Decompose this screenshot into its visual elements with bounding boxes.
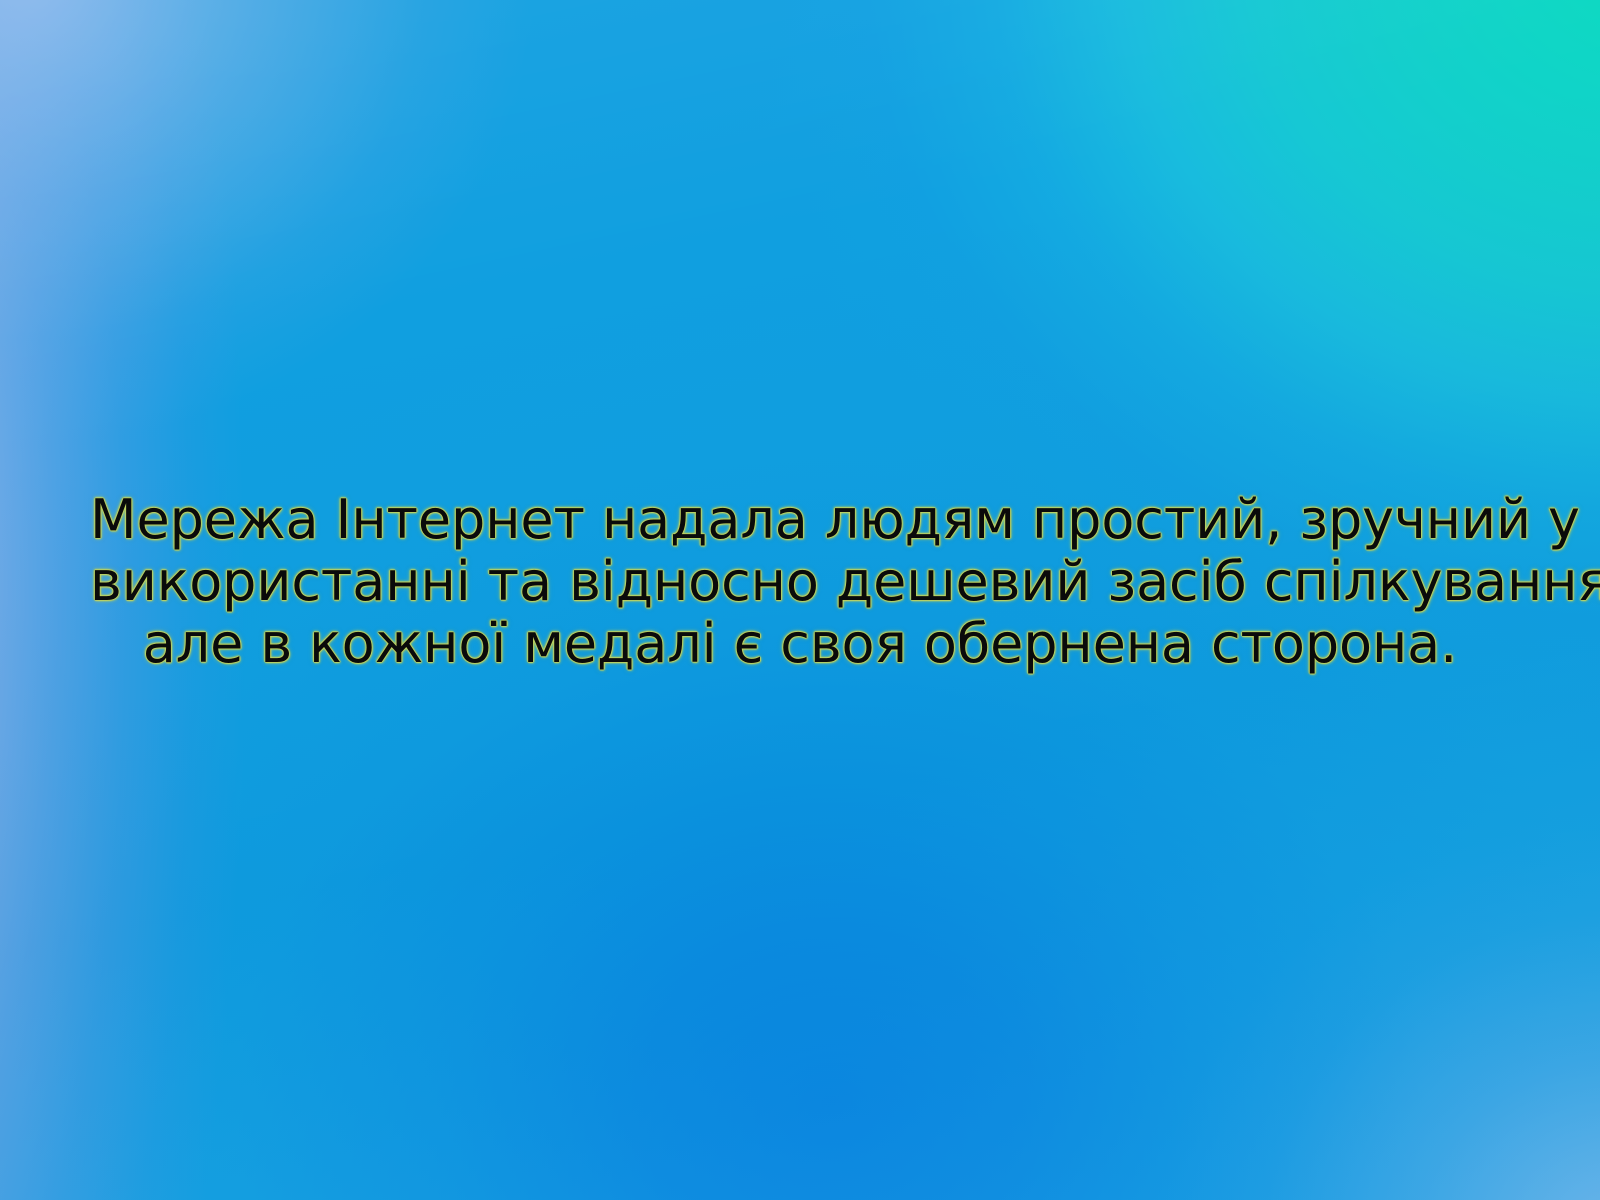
body-text-line-3: але в кожної медалі є своя обернена стор… — [90, 613, 1510, 675]
presentation-slide: Мережа Інтернет надала людям простий, зр… — [0, 0, 1600, 1200]
body-text-line-1: Мережа Інтернет надала людям простий, зр… — [90, 489, 1510, 551]
body-text-line-2: використанні та відносно дешевий засіб с… — [90, 551, 1510, 613]
slide-body-text: Мережа Інтернет надала людям простий, зр… — [0, 489, 1600, 675]
